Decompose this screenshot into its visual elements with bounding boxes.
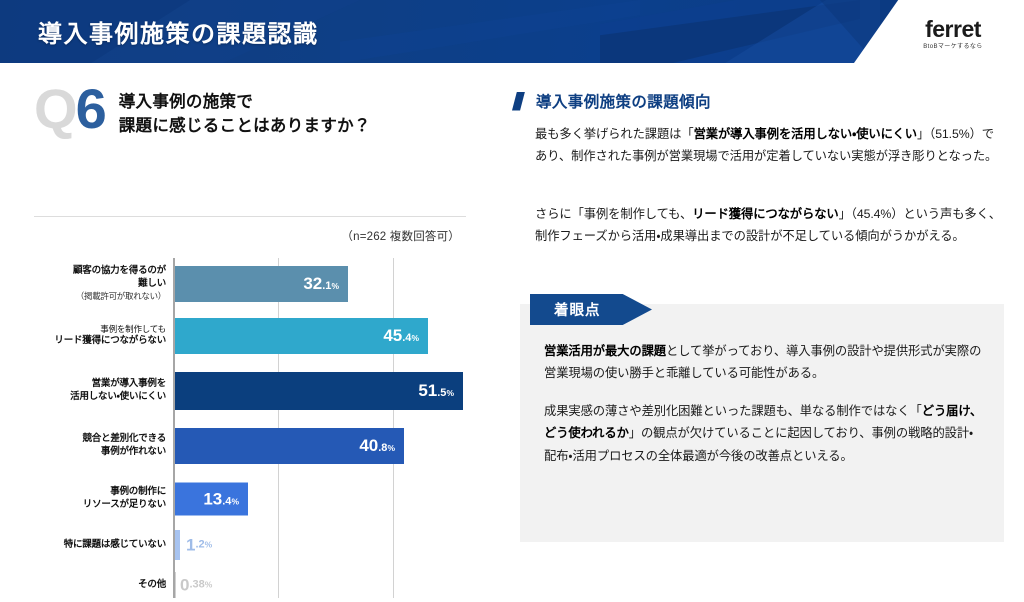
chart-axis xyxy=(173,258,175,598)
chart-row: 顧客の協力を得るのが 難しい （掲載許可が取れない） 32.1% xyxy=(0,260,498,308)
category-main-2: 難しい xyxy=(138,278,166,289)
focus-box: 着眼点 営業活用が最大の課題として挙がっており、導入事例の設計や提供形式が実際の… xyxy=(520,304,1004,542)
question-divider xyxy=(34,216,466,217)
question-letter: Q xyxy=(34,77,76,140)
bar-value-2: 51.5% xyxy=(418,382,454,400)
focus-body: 営業活用が最大の課題として挙がっており、導入事例の設計や提供形式が実際の営業現場… xyxy=(544,340,984,467)
p2-part-a: さらに「事例を制作しても、 xyxy=(535,207,692,221)
logo-name: ferret xyxy=(898,18,1008,41)
question-number-mark: Q6 xyxy=(34,84,105,133)
focus-paragraph-2: 成果実感の薄さや差別化困難といった課題も、単なる制作ではなく「どう届け、どう使わ… xyxy=(544,400,984,467)
question-block: Q6 導入事例の施策で 課題に感じることはありますか？ xyxy=(34,84,371,139)
focus-badge-label: 着眼点 xyxy=(554,299,601,320)
bar-track: 51.5% xyxy=(172,366,498,416)
focus-p1-bold: 営業活用が最大の課題 xyxy=(544,344,666,358)
analysis-title: 導入事例施策の課題傾向 xyxy=(536,90,711,112)
bar-1[interactable]: 45.4% xyxy=(173,318,428,354)
sample-size-note: （n=262 複数回答可） xyxy=(341,228,460,244)
bar-track: 0.38% xyxy=(172,568,498,602)
slide-root: 導入事例施策の課題認識 ferret BtoBマーケするなら Q6 導入事例の施… xyxy=(0,0,1024,555)
question-number: 6 xyxy=(76,77,105,140)
bar-2[interactable]: 51.5% xyxy=(173,372,463,410)
bar-track: 1.2% xyxy=(172,524,498,566)
analysis-paragraph-2: さらに「事例を制作しても、リード獲得につながらない」（45.4%）という声も多く… xyxy=(535,204,1005,248)
focus-paragraph-1: 営業活用が最大の課題として挙がっており、導入事例の設計や提供形式が実際の営業現場… xyxy=(544,340,984,385)
category-label: 特に課題は感じていない xyxy=(0,539,172,552)
category-label: 営業が導入事例を 活用しない・使いにくい xyxy=(0,378,172,404)
analysis-header: 導入事例施策の課題傾向 xyxy=(512,90,711,112)
question-line-1: 導入事例の施策で xyxy=(119,90,371,114)
category-label: 事例を制作しても リード獲得につながらない xyxy=(0,324,172,348)
category-main-2: 活用しない・使いにくい xyxy=(70,391,166,402)
category-main-1: 事例の制作に xyxy=(110,486,166,497)
bar-0[interactable]: 32.1% xyxy=(173,266,348,302)
bar-value-4: 13.4% xyxy=(203,490,239,508)
analysis-paragraph-1: 最も多く挙げられた課題は「営業が導入事例を活用しない・使いにくい」（51.5%）… xyxy=(535,124,1005,168)
bar-track: 45.4% xyxy=(172,312,498,360)
slash-accent-icon xyxy=(512,92,525,111)
category-label: 事例の制作に リソースが足りない xyxy=(0,486,172,512)
bar-3[interactable]: 40.8% xyxy=(173,428,404,464)
chart-row: その他 0.38% xyxy=(0,568,498,602)
chart-row: 事例の制作に リソースが足りない 13.4% xyxy=(0,476,498,522)
bar-value-1: 45.4% xyxy=(383,327,419,345)
chart-row: 営業が導入事例を 活用しない・使いにくい 51.5% xyxy=(0,366,498,416)
bar-track: 40.8% xyxy=(172,422,498,470)
slide-header: 導入事例施策の課題認識 ferret BtoBマーケするなら xyxy=(0,0,1024,63)
category-sub: （掲載許可が取れない） xyxy=(0,291,166,302)
bar-4[interactable]: 13.4% xyxy=(173,483,248,516)
bar-value-0: 32.1% xyxy=(303,275,339,293)
category-main-1: その他 xyxy=(138,579,166,590)
bar-chart: 顧客の協力を得るのが 難しい （掲載許可が取れない） 32.1% 事例を制作して… xyxy=(0,256,498,601)
p1-part-b: 営業が導入事例を活用しない・使いにくい xyxy=(694,127,917,141)
chart-row: 競合と差別化できる 事例が作れない 40.8% xyxy=(0,422,498,470)
logo-text-group: ferret BtoBマーケするなら xyxy=(898,18,1008,50)
bar-value-3: 40.8% xyxy=(359,437,395,455)
category-pre: 事例を制作しても xyxy=(0,324,166,335)
category-main-2: 事例が作れない xyxy=(101,446,166,457)
focus-p2-a: 成果実感の薄さや差別化困難といった課題も、単なる制作ではなく「 xyxy=(544,404,922,418)
p1-part-a: 最も多く挙げられた課題は「 xyxy=(535,127,694,141)
question-text: 導入事例の施策で 課題に感じることはありますか？ xyxy=(119,84,371,139)
bar-value-6: 0.38% xyxy=(180,577,212,594)
bar-track: 32.1% xyxy=(172,260,498,308)
category-main-1: 競合と差別化できる xyxy=(82,433,166,444)
focus-badge: 着眼点 xyxy=(530,294,652,325)
category-main-1: 営業が導入事例を xyxy=(92,378,166,389)
logo-tagline: BtoBマーケするなら xyxy=(898,44,1008,50)
question-line-2: 課題に感じることはありますか？ xyxy=(119,114,371,138)
bar-value-5: 1.2% xyxy=(186,537,212,554)
category-main-2: リソースが足りない xyxy=(83,499,166,510)
category-label: 顧客の協力を得るのが 難しい （掲載許可が取れない） xyxy=(0,265,172,302)
chart-row: 事例を制作しても リード獲得につながらない 45.4% xyxy=(0,312,498,360)
category-main-1: リード獲得につながらない xyxy=(54,335,166,346)
category-label: その他 xyxy=(0,579,172,592)
category-main-1: 特に課題は感じていない xyxy=(64,539,166,550)
left-panel: Q6 導入事例の施策で 課題に感じることはありますか？ （n=262 複数回答可… xyxy=(0,66,498,555)
bar-track: 13.4% xyxy=(172,476,498,522)
brand-logo[interactable]: ferret BtoBマーケするなら xyxy=(854,0,1024,63)
category-label: 競合と差別化できる 事例が作れない xyxy=(0,433,172,459)
category-main-1: 顧客の協力を得るのが xyxy=(73,265,166,276)
chart-row: 特に課題は感じていない 1.2% xyxy=(0,524,498,566)
p2-part-b: リード獲得につながらない xyxy=(692,207,838,221)
right-panel: 導入事例施策の課題傾向 最も多く挙げられた課題は「営業が導入事例を活用しない・使… xyxy=(500,66,1024,555)
page-title: 導入事例施策の課題認識 xyxy=(38,14,319,49)
